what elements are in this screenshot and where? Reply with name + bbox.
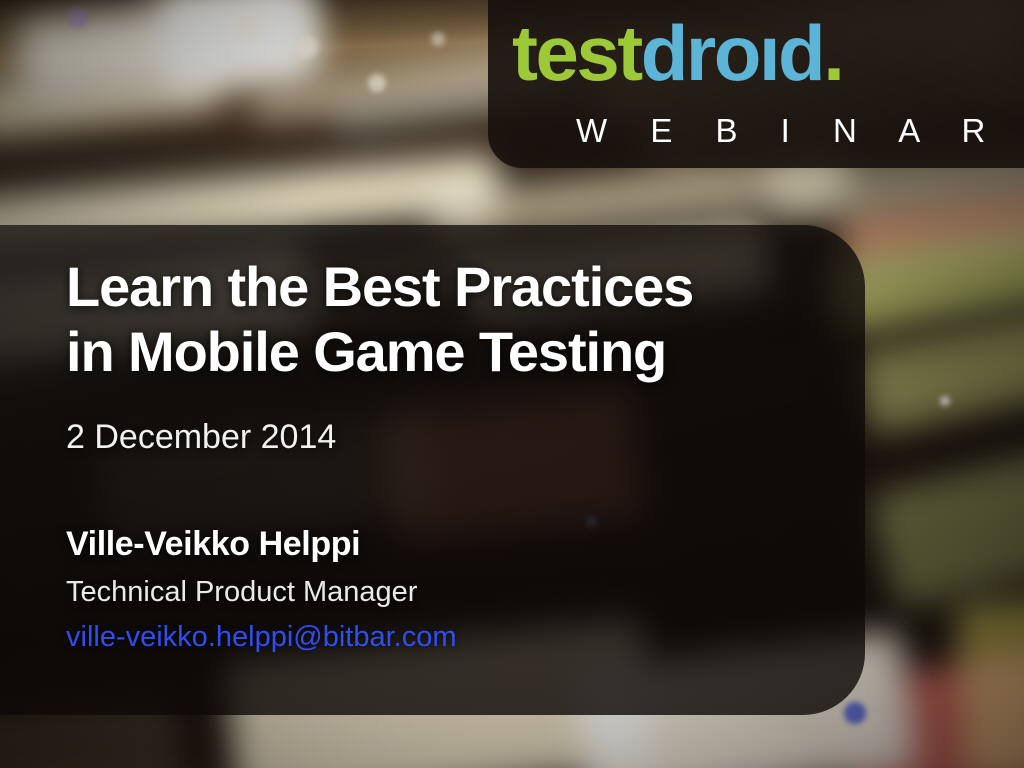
- bokeh-light: [844, 702, 866, 724]
- brand-logo: testdroıd. W E B I N A R: [488, 0, 1024, 168]
- speaker-role: Technical Product Manager: [66, 576, 806, 609]
- device-screen-blur: [954, 596, 1024, 768]
- bokeh-light: [68, 8, 88, 28]
- speaker-block: Ville-Veikko Helppi Technical Product Ma…: [66, 525, 806, 654]
- bokeh-light: [940, 396, 950, 406]
- slide-content: Learn the Best Practices in Mobile Game …: [66, 255, 806, 654]
- webinar-slide: testdroıd. W E B I N A R Learn the Best …: [0, 0, 1024, 768]
- bokeh-light: [236, 14, 262, 40]
- bokeh-light: [431, 32, 445, 46]
- logo-text-dot: .: [823, 9, 842, 97]
- speaker-email-link[interactable]: ville-veikko.helppi@bitbar.com: [66, 621, 457, 654]
- bokeh-light: [188, 60, 204, 76]
- speaker-name: Ville-Veikko Helppi: [66, 525, 806, 564]
- logo-text-test: test: [512, 9, 641, 97]
- logo-text-droid: droıd: [641, 9, 823, 97]
- bokeh-light: [296, 36, 318, 58]
- logo-subtitle-webinar: W E B I N A R: [576, 112, 1002, 150]
- slide-title: Learn the Best Practices in Mobile Game …: [66, 255, 806, 385]
- logo-wordmark: testdroıd.: [512, 14, 842, 92]
- slide-date: 2 December 2014: [66, 418, 806, 457]
- bokeh-light: [368, 74, 386, 92]
